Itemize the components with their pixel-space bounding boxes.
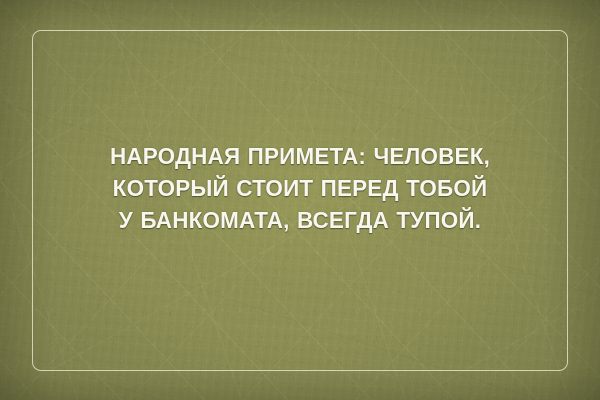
quote-line-2: КОТОРЫЙ СТОИТ ПЕРЕД ТОБОЙ — [61, 172, 539, 204]
quote-text-block: НАРОДНАЯ ПРИМЕТА: ЧЕЛОВЕК, КОТОРЫЙ СТОИТ… — [50, 140, 550, 236]
quote-line-3: У БАНКОМАТА, ВСЕГДА ТУПОЙ. — [61, 204, 539, 236]
quote-line-1: НАРОДНАЯ ПРИМЕТА: ЧЕЛОВЕК, — [61, 140, 539, 172]
quote-poster: НАРОДНАЯ ПРИМЕТА: ЧЕЛОВЕК, КОТОРЫЙ СТОИТ… — [0, 0, 600, 400]
